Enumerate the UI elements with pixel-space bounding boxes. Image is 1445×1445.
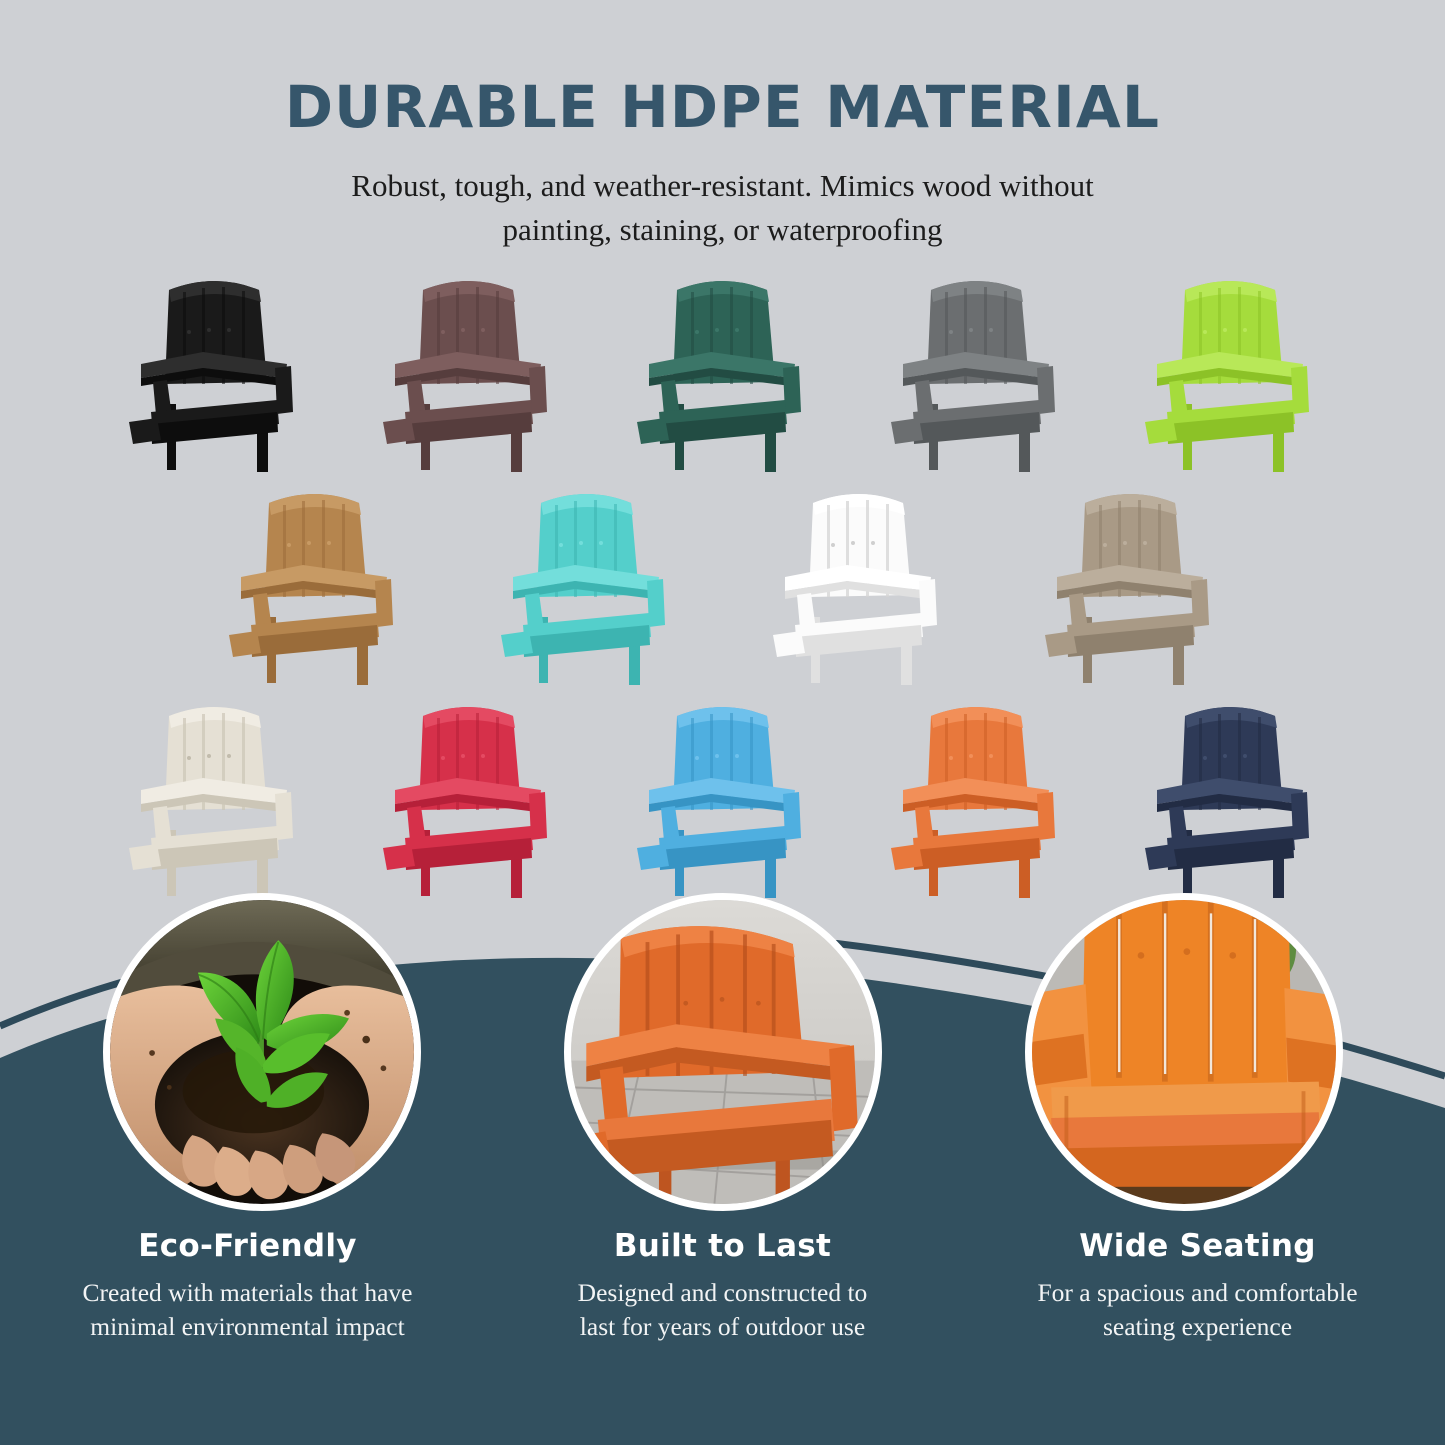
chair-swatch-weathered-wood[interactable]: [1021, 485, 1241, 693]
feature-block-eco-friendly: Eco-Friendly Created with materials that…: [28, 1228, 468, 1344]
adirondack-chair-icon: [869, 272, 1085, 480]
chair-swatch-lime-green[interactable]: [1123, 272, 1339, 480]
chair-swatch-orange[interactable]: [869, 698, 1085, 906]
page-subtitle-line-2: painting, staining, or waterproofing: [0, 208, 1445, 252]
adirondack-chair-icon: [107, 698, 323, 906]
feature-title-built-to-last: Built to Last: [503, 1228, 943, 1264]
feature-desc-line-1: For a spacious and comfortable: [978, 1276, 1418, 1310]
feature-desc-built-to-last: Designed and constructed to last for yea…: [503, 1276, 943, 1344]
adirondack-chair-icon: [477, 485, 697, 693]
feature-block-built-to-last: Built to Last Designed and constructed t…: [503, 1228, 943, 1344]
adirondack-chair-icon: [1123, 272, 1339, 480]
adirondack-chair-icon: [869, 698, 1085, 906]
adirondack-chair-icon: [361, 272, 577, 480]
adirondack-chair-icon: [1021, 485, 1241, 693]
chair-swatch-black[interactable]: [107, 272, 323, 480]
feature-desc-eco-friendly: Created with materials that have minimal…: [28, 1276, 468, 1344]
orange-chair-on-patio-photo: [571, 900, 875, 1204]
chair-swatch-ivory[interactable]: [107, 698, 323, 906]
adirondack-chair-icon: [107, 272, 323, 480]
feature-text-blocks: Eco-Friendly Created with materials that…: [0, 1228, 1445, 1344]
adirondack-chair-icon: [615, 698, 831, 906]
chair-swatch-light-blue[interactable]: [615, 698, 831, 906]
chair-row-1: [0, 272, 1445, 480]
chair-swatch-dark-green[interactable]: [615, 272, 831, 480]
chair-swatch-red[interactable]: [361, 698, 577, 906]
feature-desc-line-1: Designed and constructed to: [503, 1276, 943, 1310]
feature-title-eco-friendly: Eco-Friendly: [28, 1228, 468, 1264]
adirondack-chair-icon: [1123, 698, 1339, 906]
orange-chair-wide-seat-closeup-photo: [1032, 900, 1336, 1204]
chair-swatch-teak[interactable]: [205, 485, 425, 693]
orange-chair-on-patio-illustration: [571, 900, 875, 1204]
feature-block-wide-seating: Wide Seating For a spacious and comforta…: [978, 1228, 1418, 1344]
adirondack-chair-icon: [361, 698, 577, 906]
header: DURABLE HDPE MATERIAL Robust, tough, and…: [0, 0, 1445, 252]
chair-row-3: [0, 698, 1445, 906]
seedling-in-hands-illustration: [110, 900, 414, 1204]
chair-row-2: [0, 485, 1445, 693]
feature-desc-line-2: seating experience: [978, 1310, 1418, 1344]
hands-holding-seedling-photo: [110, 900, 414, 1204]
chair-swatch-navy[interactable]: [1123, 698, 1339, 906]
chair-swatch-gray[interactable]: [869, 272, 1085, 480]
feature-desc-wide-seating: For a spacious and comfortable seating e…: [978, 1276, 1418, 1344]
feature-title-wide-seating: Wide Seating: [978, 1228, 1418, 1264]
feature-photo-built-to-last: [564, 893, 882, 1211]
wide-seat-closeup-illustration: [1032, 900, 1336, 1204]
adirondack-chair-icon: [615, 272, 831, 480]
chair-swatch-brown[interactable]: [361, 272, 577, 480]
adirondack-chair-icon: [205, 485, 425, 693]
adirondack-chair-icon: [749, 485, 969, 693]
chair-swatch-turquoise[interactable]: [477, 485, 697, 693]
feature-photo-eco-friendly: [103, 893, 421, 1211]
feature-photo-circles: [0, 893, 1445, 1218]
page-title: DURABLE HDPE MATERIAL: [0, 78, 1445, 136]
feature-desc-line-1: Created with materials that have: [28, 1276, 468, 1310]
feature-desc-line-2: minimal environmental impact: [28, 1310, 468, 1344]
page-subtitle-line-1: Robust, tough, and weather-resistant. Mi…: [0, 164, 1445, 208]
feature-photo-wide-seating: [1025, 893, 1343, 1211]
page-subtitle: Robust, tough, and weather-resistant. Mi…: [0, 164, 1445, 252]
chair-swatch-white[interactable]: [749, 485, 969, 693]
feature-desc-line-2: last for years of outdoor use: [503, 1310, 943, 1344]
chair-color-grid: [0, 272, 1445, 906]
